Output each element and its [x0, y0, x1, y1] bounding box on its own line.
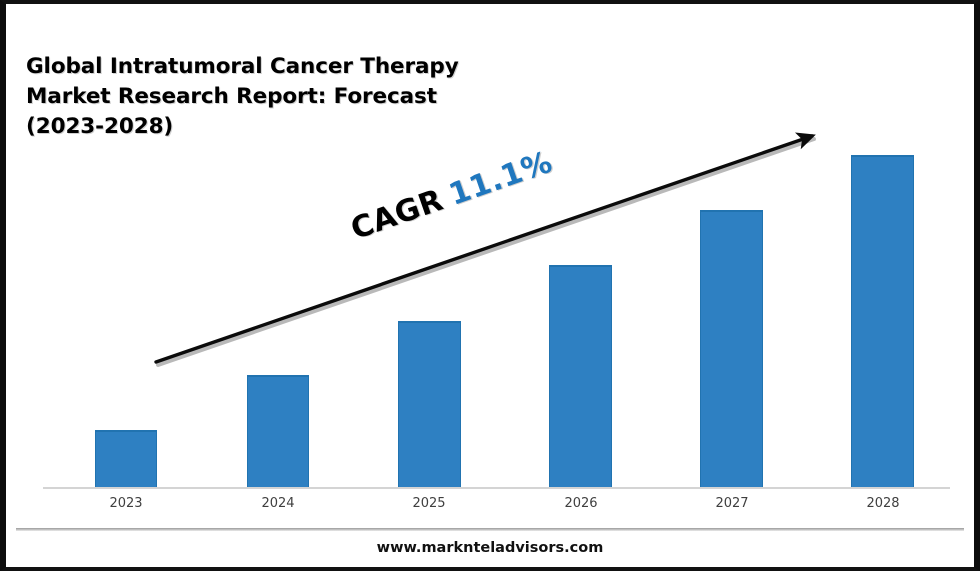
- chart-plot-area: 2023 2024 2025 2026 2027 2028 CAGR11.1%: [6, 4, 974, 567]
- bar-2023[interactable]: [95, 430, 157, 488]
- x-tick-label-2025: 2025: [389, 496, 469, 511]
- chart-card-inner: Global Intratumoral Cancer Therapy Marke…: [6, 4, 974, 567]
- x-tick-label-2028: 2028: [843, 496, 923, 511]
- bar-2027[interactable]: [700, 210, 763, 488]
- bar-2028[interactable]: [851, 155, 914, 488]
- x-tick-label-2027: 2027: [692, 496, 772, 511]
- x-tick-label-2024: 2024: [238, 496, 318, 511]
- bar-2026[interactable]: [549, 265, 612, 488]
- bar-2025[interactable]: [398, 321, 461, 488]
- x-tick-label-2023: 2023: [86, 496, 166, 511]
- chart-card: Global Intratumoral Cancer Therapy Marke…: [0, 0, 980, 571]
- x-tick-label-2026: 2026: [541, 496, 621, 511]
- footer-divider: [16, 528, 964, 531]
- bar-2024[interactable]: [247, 375, 309, 488]
- x-axis-line: [43, 487, 950, 489]
- footer-url[interactable]: www.marknteladvisors.com: [6, 540, 974, 556]
- bar-series: [6, 4, 974, 488]
